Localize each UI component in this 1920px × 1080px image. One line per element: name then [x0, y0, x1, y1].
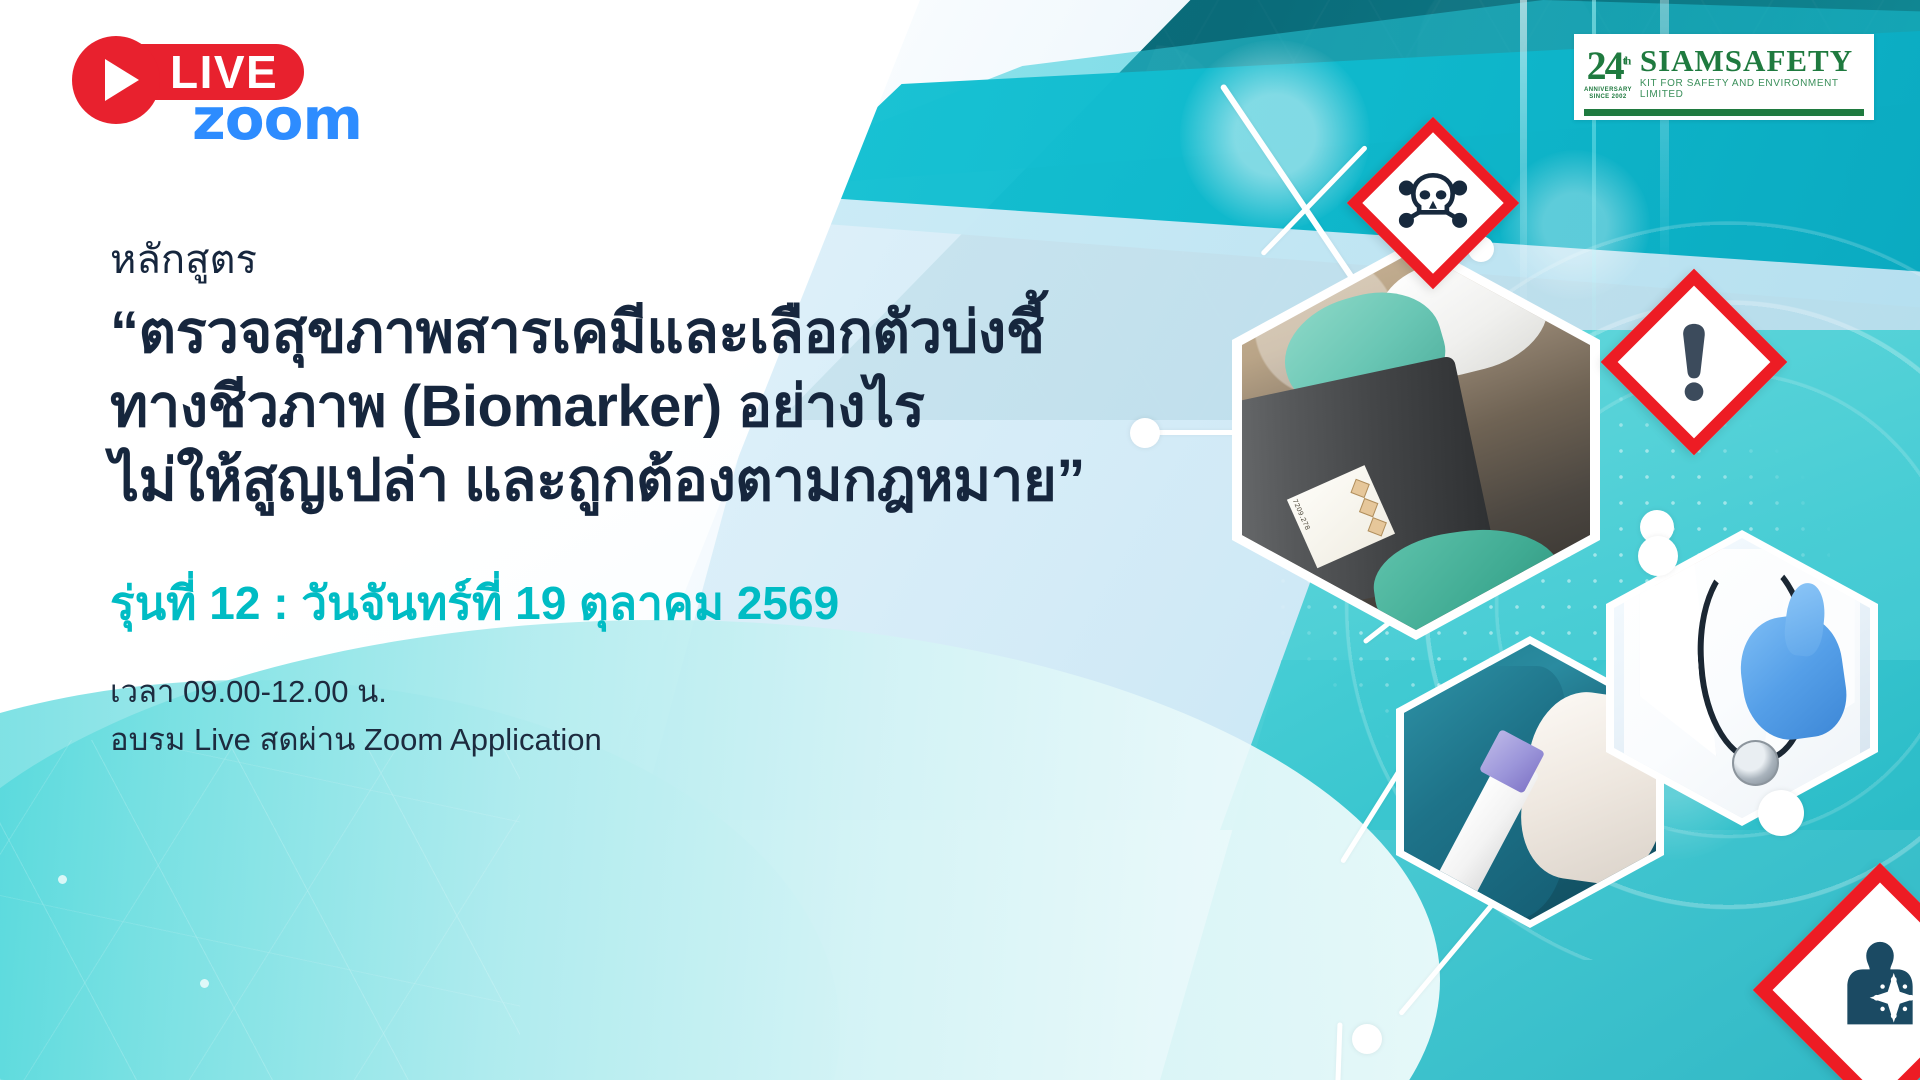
- glow-spot: [1180, 40, 1370, 230]
- course-title-line-3: ไม่ให้สูญเปล่า และถูกต้องตามกฎหมาย”: [110, 444, 1170, 518]
- mesh-node: [58, 875, 67, 884]
- course-meta: เวลา 09.00-12.00 น. อบรม Live สดผ่าน Zoo…: [110, 668, 1170, 764]
- label-picto-icon: [1368, 517, 1387, 536]
- play-triangle-icon: [72, 36, 160, 124]
- course-kicker: หลักสูตร: [110, 238, 1170, 282]
- label-picto-icon: [1359, 498, 1378, 517]
- connector-node: [1758, 790, 1804, 836]
- live-zoom-logo: LIVE zoom: [72, 28, 392, 138]
- anniversary-ordinal: th: [1623, 53, 1630, 67]
- label-picto-icon: [1351, 479, 1370, 498]
- stethoscope-chestpiece: [1732, 740, 1780, 786]
- light-streak: [1520, 0, 1527, 330]
- course-title-line-2: ทางชีวภาพ (Biomarker) อย่างไร: [110, 370, 1170, 444]
- connector-node: [1352, 1024, 1382, 1054]
- logo-green-bar: [1584, 109, 1864, 116]
- siamsafety-logo: 24th ANNIVERSARY SINCE 2002 SIAMSAFETY K…: [1574, 34, 1874, 120]
- banner-canvas: LIVE zoom 24th ANNIVERSARY SINCE 2002 SI…: [0, 0, 1920, 1080]
- course-title: “ตรวจสุขภาพสารเคมีและเลือกตัวบ่งชี้ ทางช…: [110, 296, 1170, 519]
- brand-name: SIAMSAFETY: [1640, 45, 1864, 76]
- course-text-block: หลักสูตร “ตรวจสุขภาพสารเคมีและเลือกตัวบ่…: [110, 238, 1170, 764]
- hazard-label: 7209.278: [1287, 465, 1395, 568]
- session-date: รุ่นที่ 12 : วันจันทร์ที่ 19 ตุลาคม 2569: [110, 567, 1170, 640]
- course-time: เวลา 09.00-12.00 น.: [110, 668, 1170, 716]
- course-platform: อบรม Live สดผ่าน Zoom Application: [110, 716, 1170, 764]
- label-code: 7209.278: [1291, 499, 1311, 532]
- anniversary-badge: 24th ANNIVERSARY SINCE 2002: [1584, 46, 1632, 100]
- zoom-wordmark: zoom: [192, 90, 362, 148]
- connector-node: [1638, 536, 1678, 576]
- mesh-node: [200, 979, 209, 988]
- course-title-line-1: “ตรวจสุขภาพสารเคมีและเลือกตัวบ่งชี้: [110, 296, 1170, 370]
- anniversary-number: 24: [1587, 43, 1623, 88]
- background-mesh-lines: [0, 740, 520, 1080]
- brand-tagline: KIT FOR SAFETY AND ENVIRONMENT LIMITED: [1640, 78, 1864, 100]
- anniversary-line2: SINCE 2002: [1589, 94, 1626, 100]
